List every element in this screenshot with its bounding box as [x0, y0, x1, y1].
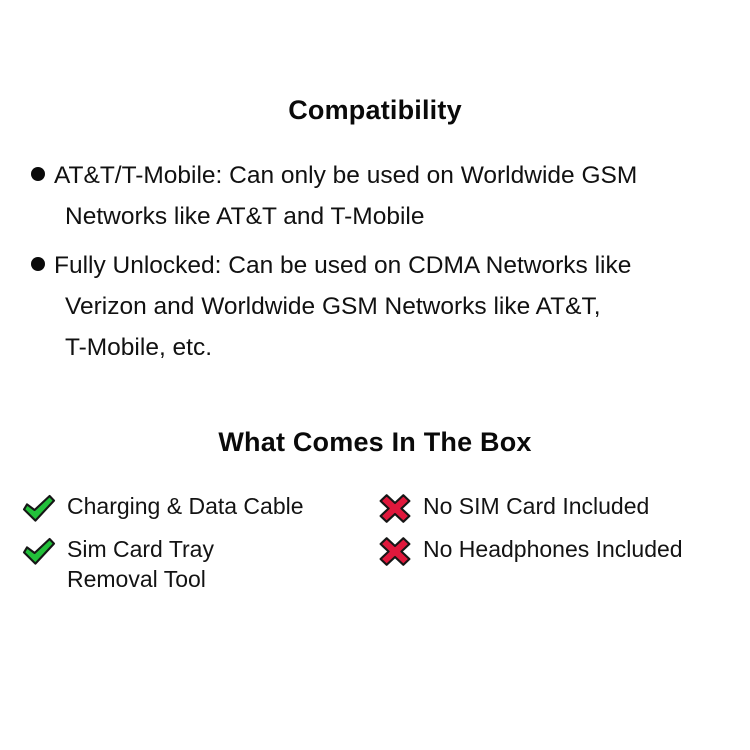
bullet-dot-icon: [31, 257, 45, 271]
box-contents-columns: Charging & Data Cable Sim Card Tray Remo…: [0, 490, 750, 601]
compatibility-list: AT&T/T-Mobile: Can only be used on World…: [0, 155, 750, 376]
list-item: Fully Unlocked: Can be used on CDMA Netw…: [0, 245, 750, 368]
compatibility-item-line: Verizon and Worldwide GSM Networks like …: [54, 286, 740, 327]
green-check-icon: [22, 493, 58, 526]
compatibility-item-line: Fully Unlocked: Can be used on CDMA Netw…: [54, 245, 740, 286]
excluded-items-column: No SIM Card Included No Headphones Inclu…: [377, 490, 750, 576]
box-contents-heading: What Comes In The Box: [0, 427, 750, 458]
green-check-icon: [22, 536, 58, 569]
excluded-item-label: No SIM Card Included: [414, 490, 649, 521]
product-info-page: Compatibility AT&T/T-Mobile: Can only be…: [0, 0, 750, 750]
compatibility-item-line: AT&T/T-Mobile: Can only be used on World…: [54, 155, 740, 196]
compatibility-item-line: Networks like AT&T and T-Mobile: [54, 196, 740, 237]
list-item: Charging & Data Cable: [22, 490, 377, 526]
included-item-label: Sim Card Tray Removal Tool: [58, 533, 214, 594]
compatibility-heading: Compatibility: [0, 95, 750, 126]
excluded-item-label: No Headphones Included: [414, 533, 683, 564]
compatibility-item-text: Fully Unlocked: Can be used on CDMA Netw…: [0, 245, 750, 368]
red-x-icon: [378, 536, 414, 569]
list-item: Sim Card Tray Removal Tool: [22, 533, 377, 594]
excluded-item-line: No SIM Card Included: [423, 491, 649, 521]
included-items-column: Charging & Data Cable Sim Card Tray Remo…: [0, 490, 377, 601]
list-item: AT&T/T-Mobile: Can only be used on World…: [0, 155, 750, 237]
included-item-label: Charging & Data Cable: [58, 490, 304, 521]
included-item-line: Sim Card Tray: [67, 534, 214, 564]
compatibility-item-line: T-Mobile, etc.: [54, 327, 740, 368]
bullet-dot-icon: [31, 167, 45, 181]
red-x-icon: [378, 493, 414, 526]
included-item-line: Charging & Data Cable: [67, 491, 304, 521]
list-item: No SIM Card Included: [378, 490, 750, 526]
included-item-line: Removal Tool: [67, 564, 214, 594]
excluded-item-line: No Headphones Included: [423, 534, 683, 564]
list-item: No Headphones Included: [378, 533, 750, 569]
compatibility-item-text: AT&T/T-Mobile: Can only be used on World…: [0, 155, 750, 237]
